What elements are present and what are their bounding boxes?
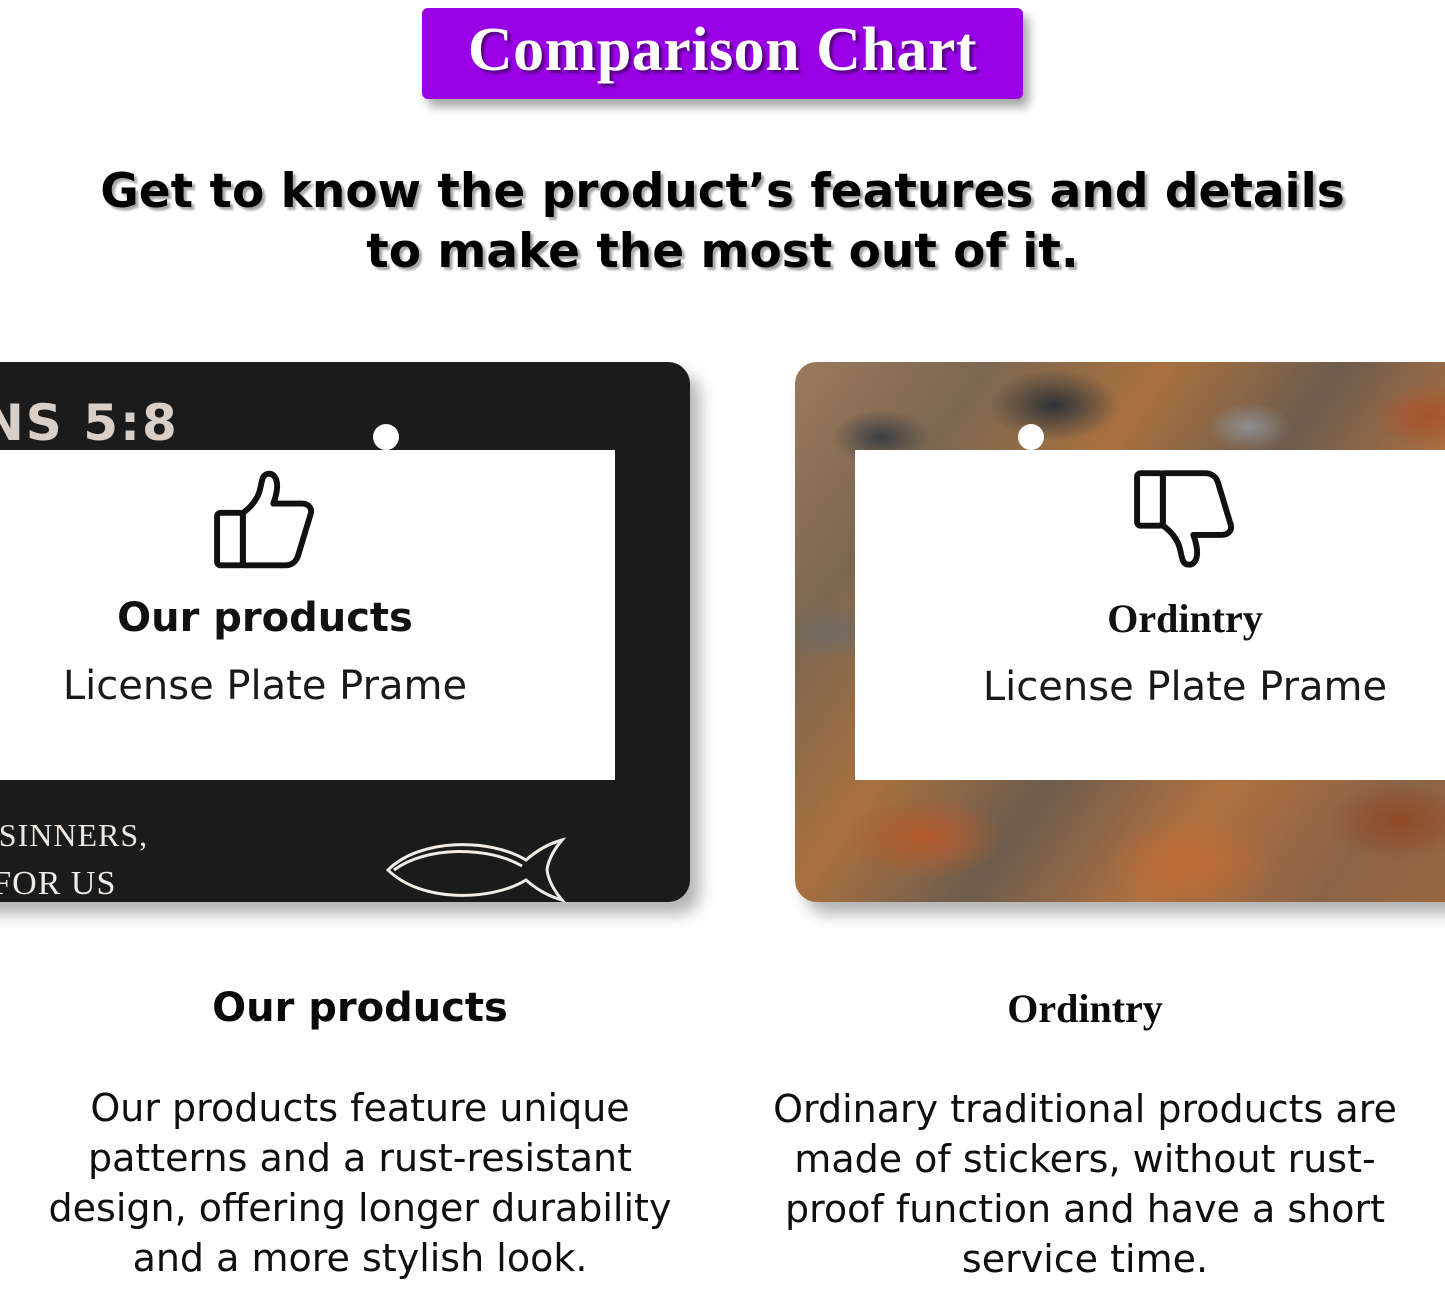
frame-engraving-bottom-line2: ST DIED FOR US xyxy=(0,865,116,903)
our-product-sublabel: License Plate Prame xyxy=(0,663,615,709)
our-product-plate-window: Our products License Plate Prame xyxy=(0,450,615,780)
ordinary-product-bolt-hole xyxy=(1018,424,1044,450)
product-panels: OMANS 5:8 Our products License Plate Pra… xyxy=(0,352,1445,912)
ordinary-product-plate-window: Ordintry License Plate Prame xyxy=(855,450,1445,780)
comparison-column-ordinary: Ordintry Ordinary traditional products a… xyxy=(735,985,1435,1285)
our-product-frame: OMANS 5:8 Our products License Plate Pra… xyxy=(0,362,690,902)
frame-engraving-top: OMANS 5:8 xyxy=(0,394,179,452)
comparison-title-ordinary: Ordintry xyxy=(735,985,1435,1032)
comparison-column-our-products: Our products Our products feature unique… xyxy=(10,985,710,1284)
our-product-bolt-hole xyxy=(373,424,399,450)
ordinary-product-label: Ordintry xyxy=(855,595,1445,642)
header-banner-container: Comparison Chart xyxy=(0,8,1445,99)
header-banner: Comparison Chart xyxy=(422,8,1023,99)
banner-title: Comparison Chart xyxy=(468,18,977,83)
ordinary-product-sublabel: License Plate Prame xyxy=(855,664,1445,710)
ordinary-product-panel-content: Ordintry License Plate Prame xyxy=(855,466,1445,710)
comparison-title-our-products: Our products xyxy=(10,985,710,1031)
comparison-body-ordinary: Ordinary traditional products are made o… xyxy=(735,1084,1435,1285)
our-product-label: Our products xyxy=(0,595,615,641)
our-product-panel-content: Our products License Plate Prame xyxy=(0,466,615,709)
thumbs-down-icon xyxy=(1126,466,1244,578)
thumbs-up-icon xyxy=(206,466,324,578)
subtitle-text: Get to know the product’s features and d… xyxy=(90,162,1355,282)
ichthys-fish-icon xyxy=(380,830,570,910)
comparison-body-our-products: Our products feature unique patterns and… xyxy=(10,1083,710,1284)
ordinary-product-frame: Ordintry License Plate Prame xyxy=(795,362,1445,902)
frame-engraving-bottom-line1: RE STILL SINNERS, xyxy=(0,817,148,854)
